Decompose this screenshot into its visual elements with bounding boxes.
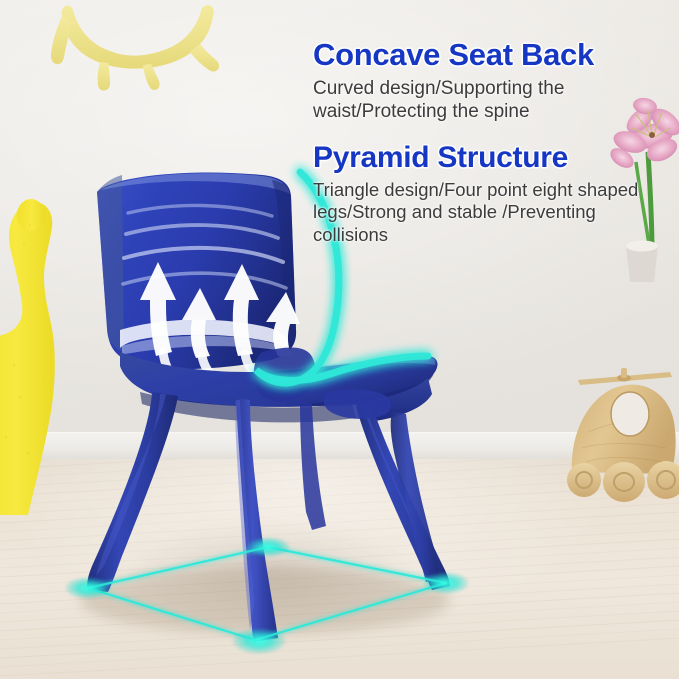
feature-heading-pyramid-structure: Pyramid Structure bbox=[313, 141, 653, 175]
leg-contact-glow-left bbox=[65, 577, 111, 599]
leg-contact-glow-back bbox=[246, 537, 290, 557]
feature-body-concave-seat-back: Curved design/Supporting the waist/Prote… bbox=[313, 77, 653, 123]
leg-contact-glow-front bbox=[232, 628, 286, 654]
feature-copy-block: Concave Seat Back Curved design/Supporti… bbox=[313, 38, 653, 246]
feature-heading-concave-seat-back: Concave Seat Back bbox=[313, 38, 653, 73]
product-feature-scene: Concave Seat Back Curved design/Supporti… bbox=[0, 0, 679, 679]
feature-body-pyramid-structure: Triangle design/Four point eight shaped … bbox=[313, 179, 653, 247]
leg-contact-glow-right bbox=[423, 572, 469, 594]
